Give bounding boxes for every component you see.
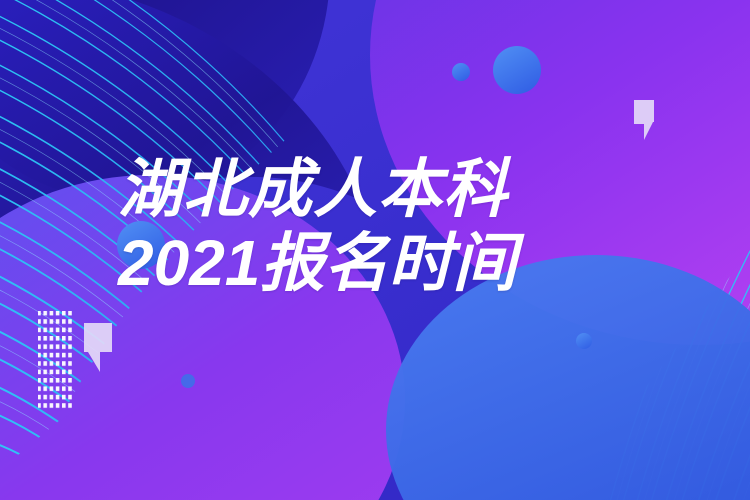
small-blue-circle [452, 63, 470, 81]
background-artwork [0, 0, 750, 500]
large-blue-circle [493, 46, 541, 94]
tiny-blue-circle-2 [181, 374, 195, 388]
tiny-blue-circle [576, 333, 592, 349]
mid-blue-circle [117, 221, 165, 269]
dot-grid-pattern [38, 311, 74, 411]
promo-banner: 湖北成人本科 2021报名时间 [0, 0, 750, 500]
